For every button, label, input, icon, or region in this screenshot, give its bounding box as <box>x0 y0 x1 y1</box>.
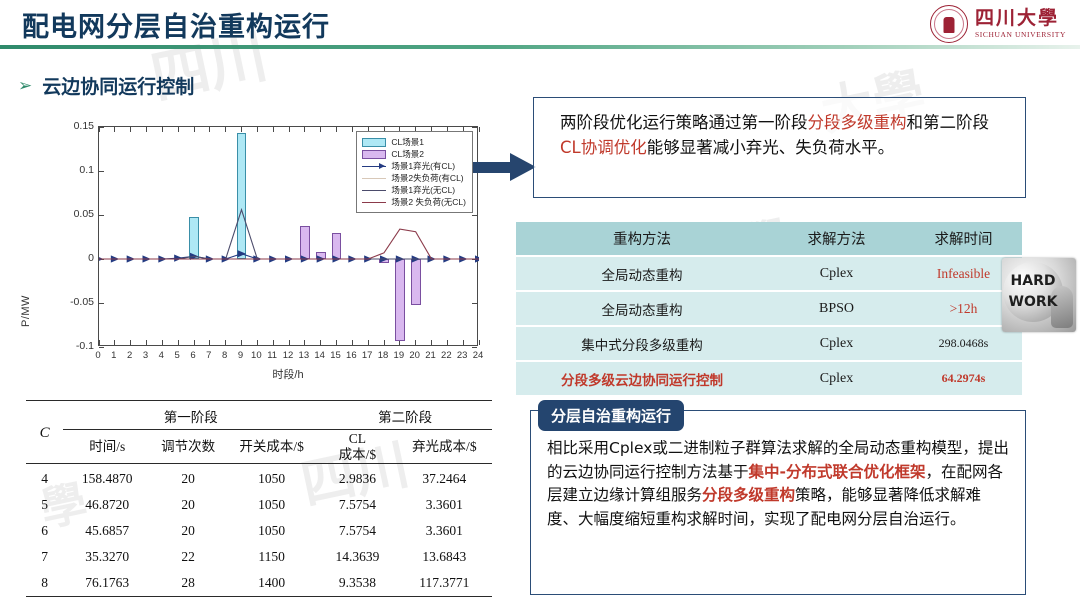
results-method-cell: 全局动态重构 <box>516 256 768 291</box>
table-header-row: 重构方法求解方法求解时间 <box>516 222 1022 256</box>
chart-x-tick: 8 <box>222 350 227 361</box>
highlight-text: 集中-分布式联合优化框架 <box>749 463 926 481</box>
chart-x-tick: 3 <box>143 350 148 361</box>
legend-swatch <box>362 150 386 159</box>
cell-switchcost: 1050 <box>225 466 318 492</box>
highlight-text: CL协调优化 <box>560 138 647 157</box>
chart-x-axis-ticks: 0123456789101112131415161718192021222324 <box>98 350 478 364</box>
highlight-text: 分段多级重构 <box>702 486 795 504</box>
university-seal-icon <box>930 5 968 43</box>
cell-pvcost: 13.6843 <box>397 544 492 570</box>
col-header-pvcost: 弃光成本/$ <box>397 430 492 464</box>
chart-y-tick: -0.05 <box>60 296 94 308</box>
legend-label: 场景1弃光(无CL) <box>391 184 455 196</box>
cell-pvcost: 3.3601 <box>397 492 492 518</box>
col-header-clcost: CL成本/$ <box>318 430 396 464</box>
chart-line <box>99 229 479 259</box>
chart-legend-item: 场景2 失负荷(无CL) <box>362 196 466 208</box>
chart-x-tick: 16 <box>346 350 357 361</box>
cell-pvcost: 117.3771 <box>397 570 492 597</box>
cloud-edge-power-chart: P/MW 0.150.10.050-0.05-0.1 CL场景1CL场景2场景1… <box>22 112 492 384</box>
conclusion-callout-bottom-text: 相比采用Cplex或二进制粒子群算法求解的全局动态重构模型，提出的云边协同运行控… <box>547 437 1011 531</box>
legend-label: 场景1弃光(有CL) <box>391 160 455 172</box>
cell-switchcost: 1050 <box>225 518 318 544</box>
chart-x-tick: 4 <box>159 350 164 361</box>
chart-line <box>99 210 479 259</box>
cell-c: 8 <box>26 570 63 597</box>
cell-c: 5 <box>26 492 63 518</box>
table-group-header-row: C第一阶段第二阶段 <box>26 403 492 430</box>
page-title: 配电网分层自治重构运行 <box>22 5 330 44</box>
university-logo: 四川大學 SICHUAN UNIVERSITY <box>930 4 1066 44</box>
results-method-cell: 分段多级云边协同运行控制 <box>516 361 768 396</box>
cell-switchcost: 1050 <box>225 492 318 518</box>
chart-x-tick: 2 <box>127 350 132 361</box>
chart-x-tick: 22 <box>441 350 452 361</box>
chart-x-tick: 10 <box>251 350 262 361</box>
table-row: 全局动态重构BPSO>12h <box>516 291 1022 326</box>
cell-pvcost: 3.3601 <box>397 518 492 544</box>
chart-legend-item: CL场景2 <box>362 148 466 160</box>
chart-x-tick: 0 <box>95 350 100 361</box>
cell-clcost: 14.3639 <box>318 544 396 570</box>
chart-y-tick: -0.1 <box>60 340 94 352</box>
chart-x-tick: 12 <box>283 350 294 361</box>
chart-x-tick: 19 <box>394 350 405 361</box>
conclusion-callout-top: 两阶段优化运行策略通过第一阶段分段多级重构和第二阶段CL协调优化能够显著减小弃光… <box>533 97 1026 198</box>
cell-c: 7 <box>26 544 63 570</box>
group-header-stage2: 第二阶段 <box>318 403 492 430</box>
title-divider <box>0 45 1080 49</box>
chart-x-tick: 7 <box>206 350 211 361</box>
chart-x-tick: 24 <box>473 350 484 361</box>
cell-adjust: 20 <box>151 492 225 518</box>
chart-x-tick: 11 <box>267 350 277 361</box>
col-header-switchcost: 开关成本/$ <box>225 430 318 464</box>
legend-label: CL场景2 <box>391 148 424 160</box>
callout-bottom-tag: 分层自治重构运行 <box>538 400 684 431</box>
table-row: 分段多级云边协同运行控制Cplex64.2974s <box>516 361 1022 396</box>
col-header-clcost-line2: 成本/$ <box>318 447 396 462</box>
university-name-en: SICHUAN UNIVERSITY <box>975 31 1066 39</box>
sticker-label-line1: HARD <box>1002 273 1064 289</box>
table-body: 全局动态重构CplexInfeasible全局动态重构BPSO>12h集中式分段… <box>516 256 1022 396</box>
arrow-bullet-icon: ➢ <box>18 77 32 94</box>
slide-header: 配电网分层自治重构运行 四川大學 SICHUAN UNIVERSITY <box>0 0 1080 48</box>
chart-x-tick: 9 <box>238 350 243 361</box>
legend-line-swatch <box>362 162 386 171</box>
table-row: 735.327022115014.363913.6843 <box>26 544 492 570</box>
chart-legend-item: 场景1弃光(无CL) <box>362 184 466 196</box>
results-time-cell: 64.2974s <box>905 361 1022 396</box>
cell-switchcost: 1400 <box>225 570 318 597</box>
conclusion-callout-top-text: 两阶段优化运行策略通过第一阶段分段多级重构和第二阶段CL协调优化能够显著减小弃光… <box>560 110 1009 161</box>
results-column-header: 重构方法 <box>516 222 768 256</box>
sticker-label-line2: WORK <box>1002 294 1064 310</box>
cell-adjust: 20 <box>151 518 225 544</box>
chart-x-tick: 1 <box>111 350 116 361</box>
cell-pvcost: 37.2464 <box>397 466 492 492</box>
conclusion-callout-bottom: 相比采用Cplex或二进制粒子群算法求解的全局动态重构模型，提出的云边协同运行控… <box>530 410 1026 595</box>
chart-x-tick: 17 <box>362 350 373 361</box>
chart-plot-area: CL场景1CL场景2场景1弃光(有CL)场景2失负荷(有CL)场景1弃光(无CL… <box>98 126 478 346</box>
legend-line-swatch <box>362 198 386 207</box>
chart-x-axis-label: 时段/h <box>98 366 478 382</box>
chart-x-tick: 20 <box>409 350 420 361</box>
cell-time: 76.1763 <box>63 570 151 597</box>
cell-time: 35.3270 <box>63 544 151 570</box>
legend-label: CL场景1 <box>391 136 424 148</box>
cell-time: 45.6857 <box>63 518 151 544</box>
two-stage-cost-table-body: C第一阶段第二阶段时间/s调节次数开关成本/$CL成本/$弃光成本/$4158.… <box>26 401 492 600</box>
results-solver-cell: BPSO <box>768 291 905 326</box>
cell-adjust: 22 <box>151 544 225 570</box>
col-header-clcost-line1: CL <box>318 431 396 446</box>
table-row: 4158.48702010502.983637.2464 <box>26 466 492 492</box>
legend-swatch <box>362 138 386 147</box>
section-heading-label: 云边协同运行控制 <box>42 72 194 99</box>
chart-x-tick: 6 <box>190 350 195 361</box>
results-method-cell: 集中式分段多级重构 <box>516 326 768 361</box>
chart-y-tick: 0.05 <box>60 208 94 220</box>
table-row: 546.87202010507.57543.3601 <box>26 492 492 518</box>
table-row: 645.68572010507.57543.3601 <box>26 518 492 544</box>
chart-x-tick: 18 <box>378 350 389 361</box>
section-heading: ➢ 云边协同运行控制 <box>18 72 194 99</box>
cell-clcost: 7.5754 <box>318 492 396 518</box>
legend-label: 场景2 失负荷(无CL) <box>391 196 466 208</box>
cell-switchcost: 1150 <box>225 544 318 570</box>
results-solver-cell: Cplex <box>768 256 905 291</box>
results-solver-cell: Cplex <box>768 361 905 396</box>
table-row: 876.17632814009.3538117.3771 <box>26 570 492 597</box>
chart-y-axis-ticks: 0.150.10.050-0.05-0.1 <box>60 112 94 384</box>
reconfiguration-results-table: 重构方法求解方法求解时间 全局动态重构CplexInfeasible全局动态重构… <box>516 222 1022 397</box>
chart-x-tick: 21 <box>425 350 436 361</box>
chart-x-tick: 15 <box>330 350 341 361</box>
cell-clcost: 2.9836 <box>318 466 396 492</box>
table-row: 全局动态重构CplexInfeasible <box>516 256 1022 291</box>
col-header-time: 时间/s <box>63 430 151 464</box>
results-column-header: 求解方法 <box>768 222 905 256</box>
chart-x-tick: 23 <box>457 350 468 361</box>
chart-marker <box>238 250 247 257</box>
chart-legend-item: 场景2失负荷(有CL) <box>362 172 466 184</box>
chart-y-tick: 0.15 <box>60 120 94 132</box>
cell-c: 4 <box>26 466 63 492</box>
two-stage-cost-table: C第一阶段第二阶段时间/s调节次数开关成本/$CL成本/$弃光成本/$4158.… <box>26 400 492 599</box>
body-text: 两阶段优化运行策略通过第一阶段 <box>560 113 808 132</box>
chart-x-tick: 5 <box>175 350 180 361</box>
legend-label: 场景2失负荷(有CL) <box>391 172 463 184</box>
group-header-stage1: 第一阶段 <box>63 403 318 430</box>
cell-adjust: 20 <box>151 466 225 492</box>
cell-adjust: 28 <box>151 570 225 597</box>
chart-y-axis-label: P/MW <box>20 295 32 327</box>
results-column-header: 求解时间 <box>905 222 1022 256</box>
legend-line-swatch <box>362 186 386 195</box>
results-solver-cell: Cplex <box>768 326 905 361</box>
chart-legend-item: CL场景1 <box>362 136 466 148</box>
legend-line-swatch <box>362 174 386 183</box>
table-row: 集中式分段多级重构Cplex298.0468s <box>516 326 1022 361</box>
body-text: 和第二阶段 <box>907 113 990 132</box>
chart-x-tick: 13 <box>299 350 310 361</box>
chart-y-tick: 0 <box>60 252 94 264</box>
hard-work-sticker: HARD WORK <box>1002 258 1076 332</box>
cell-c: 6 <box>26 518 63 544</box>
chart-legend: CL场景1CL场景2场景1弃光(有CL)场景2失负荷(有CL)场景1弃光(无CL… <box>356 131 473 213</box>
rule <box>26 597 492 600</box>
col-header-adjust: 调节次数 <box>151 430 225 464</box>
chart-legend-item: 场景1弃光(有CL) <box>362 160 466 172</box>
table-rule <box>26 597 492 600</box>
c-column-header: C <box>26 403 63 464</box>
table-column-header-row: 时间/s调节次数开关成本/$CL成本/$弃光成本/$ <box>26 430 492 464</box>
cell-time: 46.8720 <box>63 492 151 518</box>
cell-clcost: 9.3538 <box>318 570 396 597</box>
university-name-cn: 四川大學 <box>975 9 1066 28</box>
chart-y-tick: 0.1 <box>60 164 94 176</box>
university-logo-text: 四川大學 SICHUAN UNIVERSITY <box>975 9 1066 39</box>
chart-x-tick: 14 <box>314 350 325 361</box>
body-text: 能够显著减小弃光、失负荷水平。 <box>647 138 895 157</box>
results-method-cell: 全局动态重构 <box>516 291 768 326</box>
cell-clcost: 7.5754 <box>318 518 396 544</box>
cell-time: 158.4870 <box>63 466 151 492</box>
highlight-text: 分段多级重构 <box>808 113 907 132</box>
